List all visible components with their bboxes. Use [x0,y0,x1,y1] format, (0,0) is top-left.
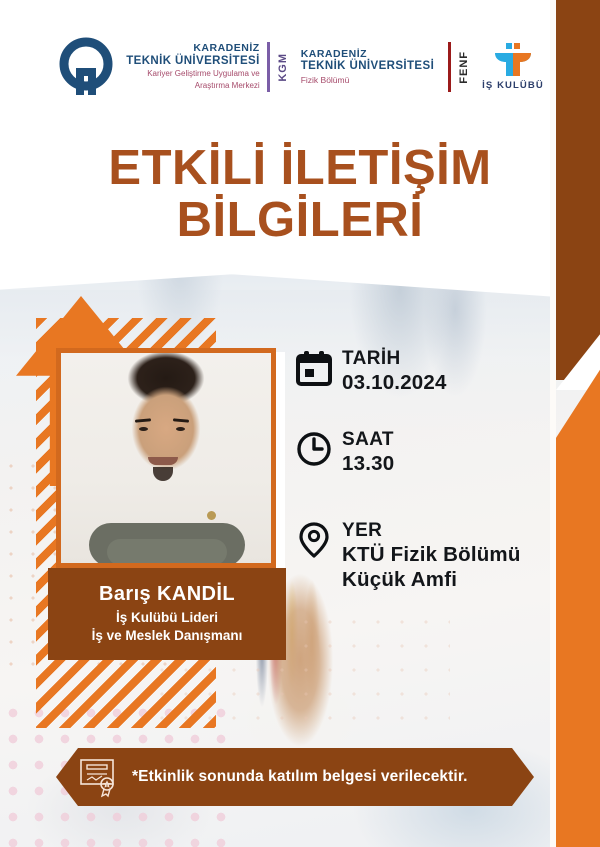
detail-label-location: YER [342,520,521,542]
detail-text-date: TARİH 03.10.2024 [342,348,447,395]
fizik-logo-text: KARADENİZ TEKNİK ÜNİVERSİTESİ Fizik Bölü… [301,48,434,86]
photo-eye-left [139,427,148,431]
speaker-role-2: İş ve Meslek Danışmanı [92,627,243,645]
is-kulubu-label: İŞ KULÜBÜ [482,80,544,91]
speaker-photo [61,353,271,563]
detail-text-location: YER KTÜ Fizik Bölümü Küçük Amfi [342,520,521,592]
calendar-icon [296,350,332,386]
detail-row-location: YER KTÜ Fizik Bölümü Küçük Amfi [296,520,546,592]
fizik-line2: TEKNİK ÜNİVERSİTESİ [301,60,434,74]
detail-text-time: SAAT 13.30 [342,429,394,476]
header-logo-bar: KARADENİZ TEKNİK ÜNİVERSİTESİ Kariyer Ge… [0,24,600,110]
certificate-icon [78,755,122,799]
photo-arms-fold [107,539,227,563]
detail-label-time: SAAT [342,429,394,451]
photo-goatee [153,467,173,481]
fizik-line3: Fizik Bölümü [301,75,434,86]
clock-icon [296,431,332,467]
speaker-role-1: İş Kulübü Lideri [116,609,218,627]
fenf-vertical-label: FENF [458,51,470,84]
kgm-line2: TEKNİK ÜNİVERSİTESİ [126,55,259,69]
title-line-2: BİLGİLERİ [0,195,600,247]
note-banner: *Etkinlik sonunda katılım belgesi verile… [56,748,534,806]
detail-value-time: 13.30 [342,451,394,476]
fenf-divider [448,42,451,92]
photo-mouth [148,457,178,465]
photo-lapel-pin [207,511,216,520]
kgm-divider [267,42,270,92]
note-text: *Etkinlik sonunda katılım belgesi verile… [132,768,468,786]
detail-label-date: TARİH [342,348,447,370]
detail-value-location-2: Küçük Amfi [342,567,521,592]
photo-brow-left [135,418,151,422]
kgm-line1: KARADENİZ [126,42,259,54]
right-bar-orange [556,360,600,847]
location-pin-icon [296,522,332,558]
kgm-vertical-label: KGM [277,53,289,82]
kgm-line3: Kariyer Geliştirme Uygulama ve [126,69,259,80]
detail-row-date: TARİH 03.10.2024 [296,348,546,395]
title-line-1: ETKİLİ İLETİŞİM [0,143,600,195]
event-details: TARİH 03.10.2024 SAAT 13.30 YER KTÜ Fizi… [296,348,546,626]
photo-eye-right [176,427,185,431]
speaker-name: Barış KANDİL [99,583,235,605]
detail-value-date: 03.10.2024 [342,370,447,395]
right-bar-gap [550,0,556,847]
is-kulubu-logo-block: İŞ KULÜBÜ [482,43,544,91]
kgm-line4: Araştırma Merkezi [126,81,259,92]
detail-value-location: KTÜ Fizik Bölümü [342,542,521,567]
poster: KARADENİZ TEKNİK ÜNİVERSİTESİ Kariyer Ge… [0,0,600,847]
fizik-line1: KARADENİZ [301,48,434,60]
kgm-logo-text: KARADENİZ TEKNİK ÜNİVERSİTESİ Kariyer Ge… [126,42,259,92]
is-kulubu-logo [491,43,535,77]
photo-brow-right [173,418,189,422]
speaker-name-card: Barış KANDİL İş Kulübü Lideri İş ve Mesl… [48,568,286,660]
ktu-circle-logo [56,37,116,97]
page-title: ETKİLİ İLETİŞİM BİLGİLERİ [0,143,600,247]
detail-row-time: SAAT 13.30 [296,429,546,476]
